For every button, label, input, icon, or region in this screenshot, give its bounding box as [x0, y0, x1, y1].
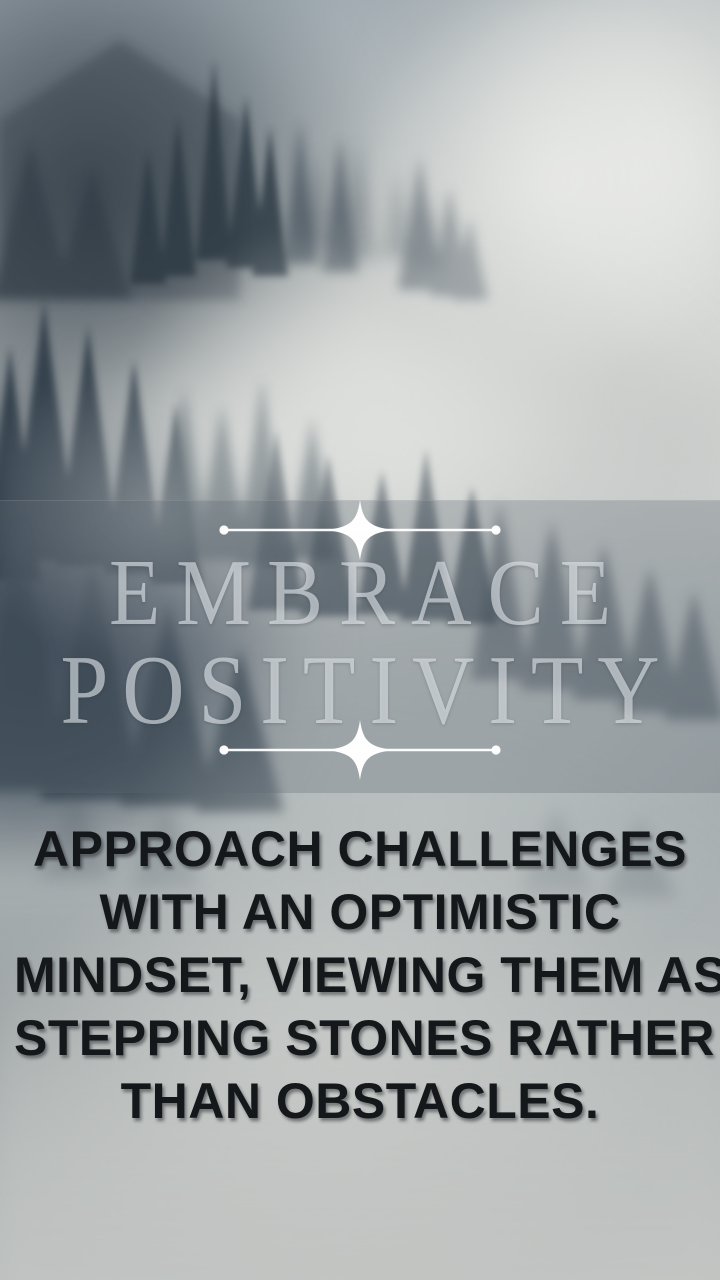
quote-poster: Embrace Positivity APPROACH CHALLENGES W… [0, 0, 720, 1280]
quote-line: STEPPING STONES RATHER [14, 1007, 706, 1070]
sparkle-divider-bottom [218, 720, 502, 780]
quote-line: WITH AN OPTIMISTIC [14, 881, 706, 944]
title-band-overlay: Embrace Positivity [0, 500, 720, 793]
title-line-embrace: Embrace [0, 548, 720, 640]
quote-text: APPROACH CHALLENGES WITH AN OPTIMISTIC M… [0, 818, 720, 1133]
quote-line: APPROACH CHALLENGES [14, 818, 706, 881]
quote-line: MINDSET, VIEWING THEM AS [14, 944, 706, 1007]
quote-line: THAN OBSTACLES. [14, 1070, 706, 1133]
title-text-block: Embrace Positivity [0, 548, 720, 727]
